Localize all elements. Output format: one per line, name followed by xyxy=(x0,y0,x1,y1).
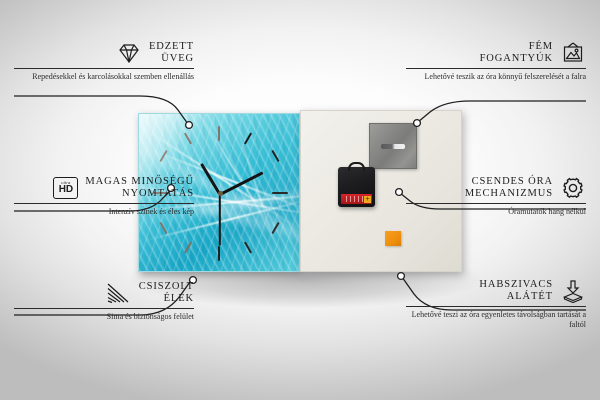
callout-title: FÉM FOGANTYÚK xyxy=(480,41,553,65)
foam-spacer-pad xyxy=(385,231,401,246)
callout-title: HABSZIVACS ALÁTÉT xyxy=(479,279,553,303)
clock-hand-hub xyxy=(218,191,223,196)
callout-rule xyxy=(406,203,586,204)
metal-hanger-plate xyxy=(369,123,417,169)
callout-head: ultra HD MAGAS MINŐSÉGŰ NYOMTATÁS xyxy=(14,176,194,200)
quartz-mechanism: + xyxy=(338,167,375,207)
gear-icon xyxy=(560,176,586,200)
callout-edzett-uveg: EDZETT ÜVEG Repedésekkel és karcolásokka… xyxy=(14,41,194,82)
callout-description: Sima és biztonságos felület xyxy=(14,312,194,322)
callout-title: MAGAS MINŐSÉGŰ NYOMTATÁS xyxy=(85,176,194,200)
callout-description: Óramutatók hang nélkül xyxy=(406,207,586,217)
battery-plus-terminal: + xyxy=(364,196,371,203)
clock-second-hand xyxy=(219,194,221,246)
mechanism-hanger-loop xyxy=(348,162,365,171)
callout-description: Intenzív színek és éles kép xyxy=(14,207,194,217)
diamond-icon xyxy=(116,41,142,65)
callout-rule xyxy=(14,308,194,309)
callout-csendes-ora-mechanizmus: CSENDES ÓRA MECHANIZMUS Óramutatók hang … xyxy=(406,176,586,217)
battery: + xyxy=(341,194,372,204)
callout-head: EDZETT ÜVEG xyxy=(14,41,194,65)
callout-description: Repedésekkel és karcolásokkal szemben el… xyxy=(14,72,194,82)
callout-csiszolt-elek: CSISZOLT ÉLEK Sima és biztonságos felüle… xyxy=(14,281,194,322)
foam-pad-arrow-icon xyxy=(560,279,586,303)
callout-rule xyxy=(406,306,586,307)
callout-head: CSISZOLT ÉLEK xyxy=(14,281,194,305)
callout-rule xyxy=(406,68,586,69)
callout-title: CSISZOLT ÉLEK xyxy=(139,281,194,305)
callout-head: HABSZIVACS ALÁTÉT xyxy=(406,279,586,303)
callout-title: CSENDES ÓRA MECHANIZMUS xyxy=(465,176,553,200)
callout-head: CSENDES ÓRA MECHANIZMUS xyxy=(406,176,586,200)
callout-rule xyxy=(14,68,194,69)
callout-head: FÉM FOGANTYÚK xyxy=(406,41,586,65)
polished-edge-icon xyxy=(106,281,132,305)
picture-frame-hanger-icon xyxy=(560,41,586,65)
ultra-hd-icon-main: HD xyxy=(59,185,73,195)
callout-description: Lehetővé teszik az óra könnyű felszerelé… xyxy=(406,72,586,82)
ultra-hd-icon: ultra HD xyxy=(53,177,78,199)
callout-habszivacs-alatet: HABSZIVACS ALÁTÉT Lehetővé teszi az óra … xyxy=(406,279,586,330)
hanger-slot xyxy=(381,144,405,149)
callout-magas-minosegu-nyomtatas: ultra HD MAGAS MINŐSÉGŰ NYOMTATÁS Intenz… xyxy=(14,176,194,217)
callout-rule xyxy=(14,203,194,204)
callout-title: EDZETT ÜVEG xyxy=(149,41,194,65)
callout-fem-fogantyuk: FÉM FOGANTYÚK Lehetővé teszik az óra kön… xyxy=(406,41,586,82)
callout-description: Lehetővé teszi az óra egyenletes távolsá… xyxy=(406,310,586,330)
